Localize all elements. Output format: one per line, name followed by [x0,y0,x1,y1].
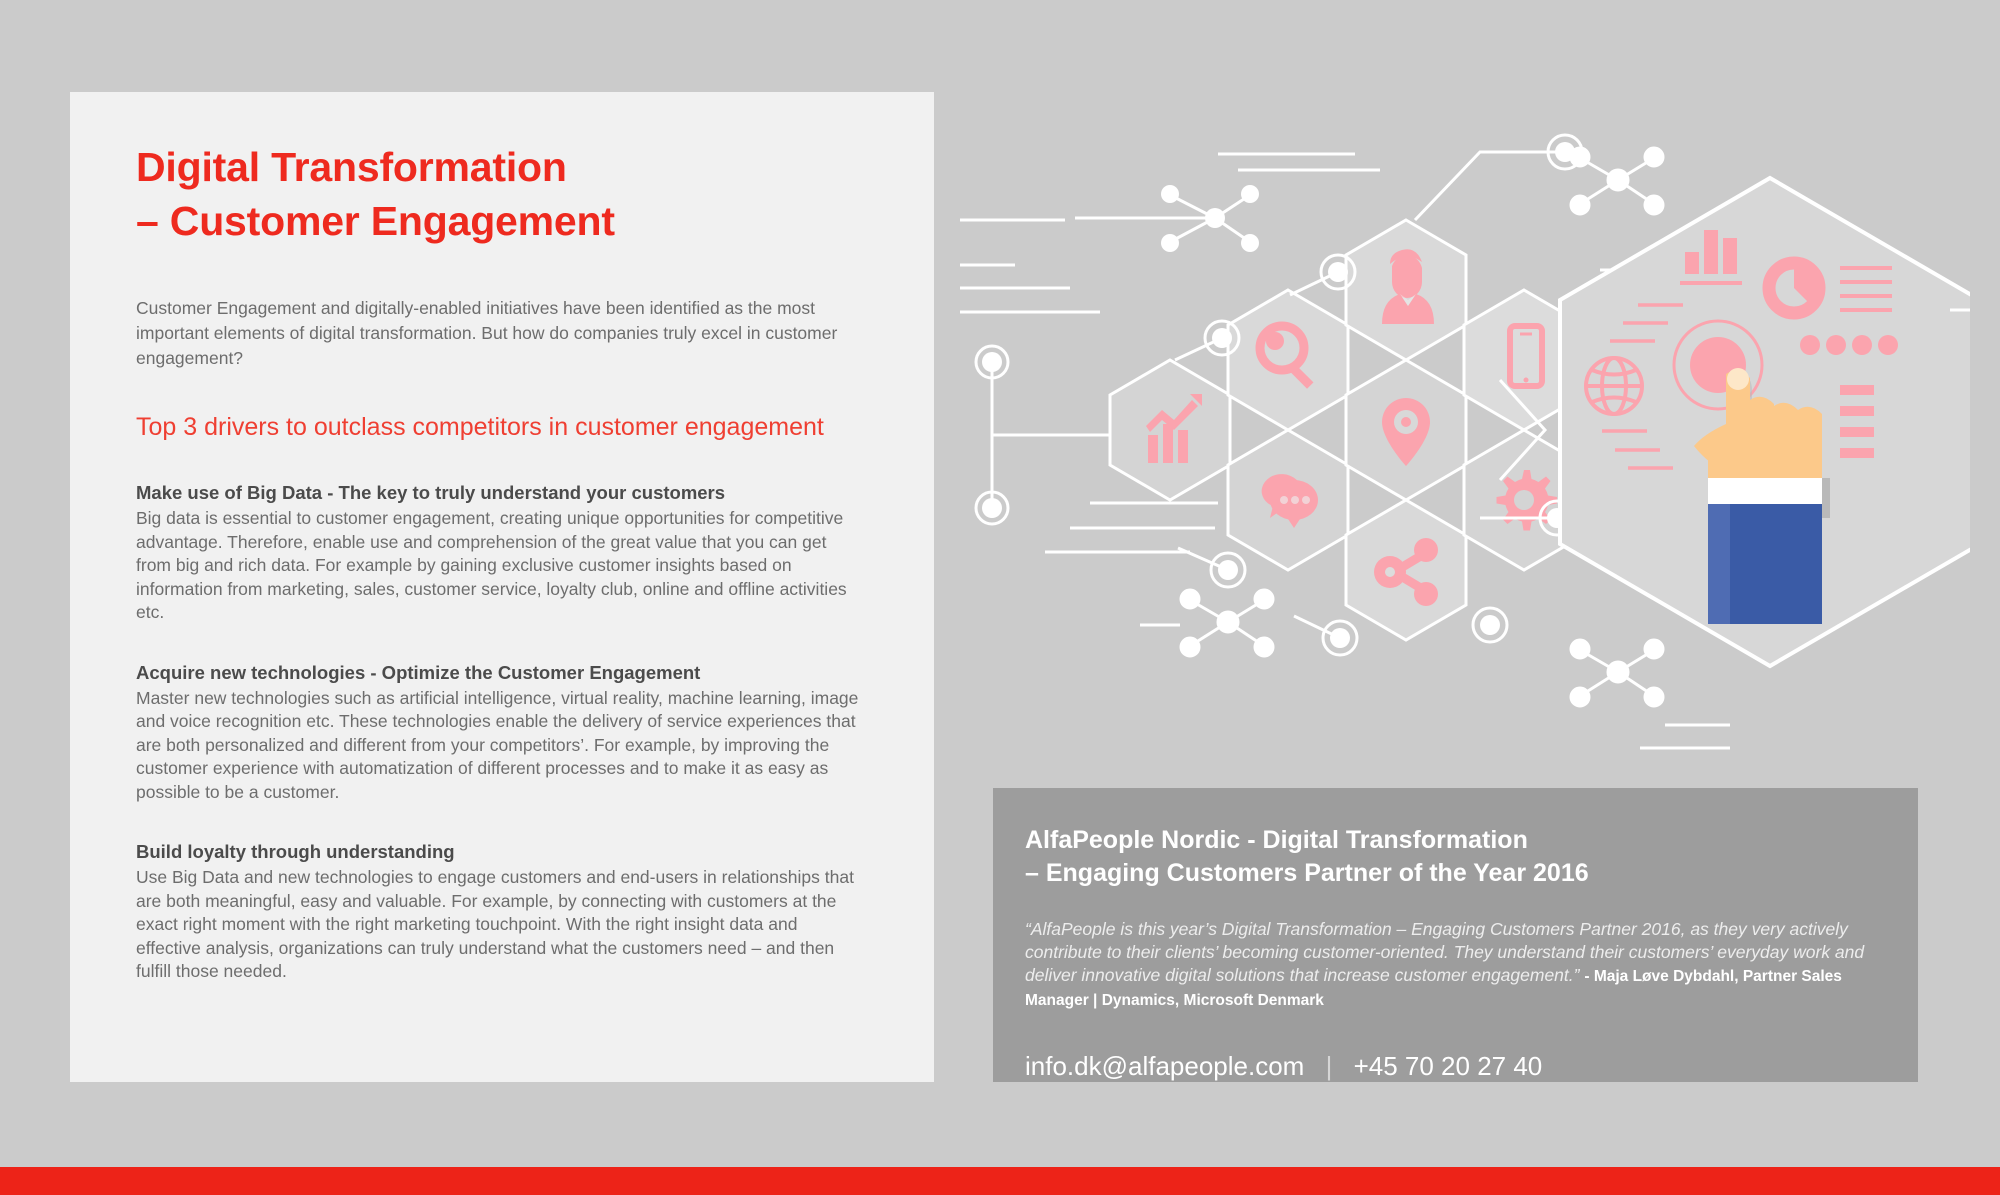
molecule-node-cluster-bottom [1140,580,1400,700]
driver-1-body: Big data is essential to customer engage… [136,507,866,625]
hexagon-cluster [1110,220,1584,640]
contact-separator: | [1312,1051,1347,1081]
driver-section-3: Build loyalty through understanding Use … [136,840,866,984]
contact-phone[interactable]: +45 70 20 27 40 [1354,1051,1543,1081]
title-line-1: Digital Transformation [136,144,567,190]
left-connector [992,362,1112,508]
driver-1-heading: Make use of Big Data - The key to truly … [136,481,866,505]
award-callout-box: AlfaPeople Nordic - Digital Transformati… [993,788,1918,1082]
award-quote: “AlfaPeople is this year’s Digital Trans… [1025,918,1890,1012]
dashboard-hexagon [1560,178,1970,666]
driver-3-body: Use Big Data and new technologies to eng… [136,866,866,984]
title-line-2: – Customer Engagement [136,194,866,248]
section-subheading: Top 3 drivers to outclass competitors in… [136,409,836,445]
driver-3-heading: Build loyalty through understanding [136,840,866,864]
award-title-line-2: – Engaging Customers Partner of the Year… [1025,857,1890,890]
award-title: AlfaPeople Nordic - Digital Transformati… [1025,824,1890,890]
page-title: Digital Transformation – Customer Engage… [136,140,866,248]
contact-email[interactable]: info.dk@alfapeople.com [1025,1051,1304,1081]
molecule-node-cluster-bottomright [1530,630,1730,760]
molecule-node-cluster-topright [1530,140,1730,250]
hexagon-illustration [960,130,1970,710]
ring-node-right-bottom [1473,608,1507,642]
driver-section-2: Acquire new technologies - Optimize the … [136,661,866,805]
intro-paragraph: Customer Engagement and digitally-enable… [136,296,861,371]
bottom-accent-bar [0,1167,2000,1195]
driver-2-body: Master new technologies such as artifici… [136,687,866,805]
content-panel: Digital Transformation – Customer Engage… [70,92,934,1082]
poster-page: Digital Transformation – Customer Engage… [0,0,2000,1195]
driver-section-1: Make use of Big Data - The key to truly … [136,481,866,625]
contact-line: info.dk@alfapeople.com | +45 70 20 27 40 [1025,1050,1890,1082]
molecule-node-cluster-top [1075,185,1259,252]
award-title-line-1: AlfaPeople Nordic - Digital Transformati… [1025,826,1528,854]
driver-2-heading: Acquire new technologies - Optimize the … [136,661,866,685]
